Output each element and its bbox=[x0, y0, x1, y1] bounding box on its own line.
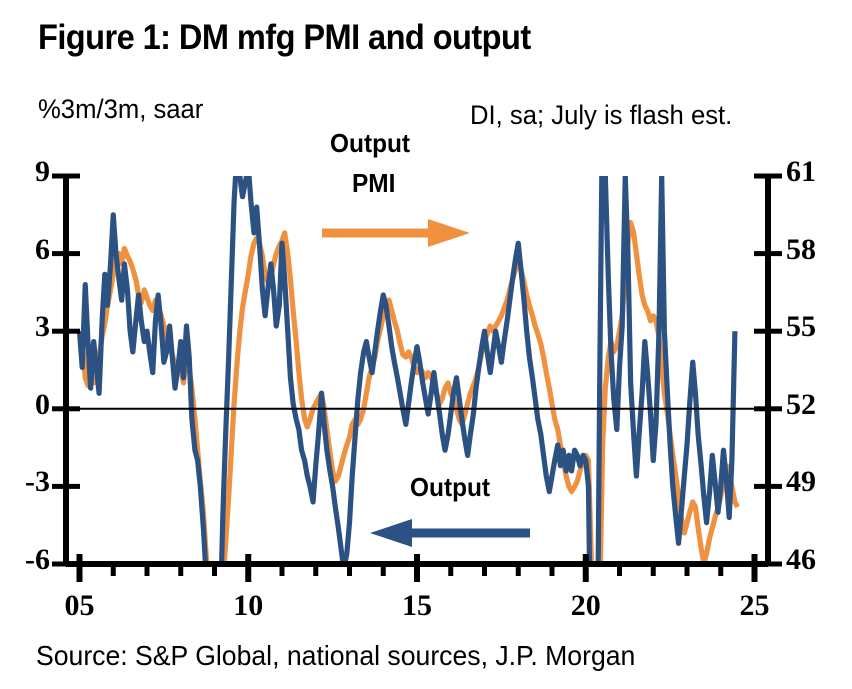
y-axis-right-tick-label: 52 bbox=[786, 388, 842, 422]
annotation-output-pmi-line1: Output bbox=[330, 128, 410, 159]
y-axis-right-tick-label: 55 bbox=[786, 310, 842, 344]
chart-svg bbox=[0, 0, 852, 689]
y-axis-left-tick-label: -6 bbox=[0, 543, 50, 577]
y-axis-left-tick-label: 6 bbox=[0, 233, 50, 267]
figure-container: Figure 1: DM mfg PMI and output %3m/3m, … bbox=[0, 0, 852, 689]
arrow-left-blue-icon bbox=[370, 519, 530, 547]
y-axis-left-tick-label: 0 bbox=[0, 388, 50, 422]
annotation-output-pmi-line2: PMI bbox=[352, 168, 395, 199]
y-axis-right-tick-label: 61 bbox=[786, 155, 842, 189]
y-axis-right-tick-label: 49 bbox=[786, 465, 842, 499]
x-axis-tick-label: 10 bbox=[218, 589, 278, 623]
x-axis-tick-label: 15 bbox=[387, 589, 447, 623]
source-note: Source: S&P Global, national sources, J.… bbox=[36, 640, 635, 672]
x-axis-tick-label: 05 bbox=[50, 589, 110, 623]
y-axis-left-tick-label: -3 bbox=[0, 465, 50, 499]
y-axis-right-tick-label: 46 bbox=[786, 543, 842, 577]
annotation-output-left: Output bbox=[410, 472, 490, 503]
x-axis-tick-label: 20 bbox=[556, 589, 616, 623]
y-axis-left-tick-label: 9 bbox=[0, 155, 50, 189]
plot-area bbox=[0, 0, 852, 689]
arrow-right-orange-icon bbox=[322, 219, 470, 247]
y-axis-left-tick-label: 3 bbox=[0, 310, 50, 344]
y-axis-right-tick-label: 58 bbox=[786, 233, 842, 267]
x-axis-tick-label: 25 bbox=[725, 589, 785, 623]
